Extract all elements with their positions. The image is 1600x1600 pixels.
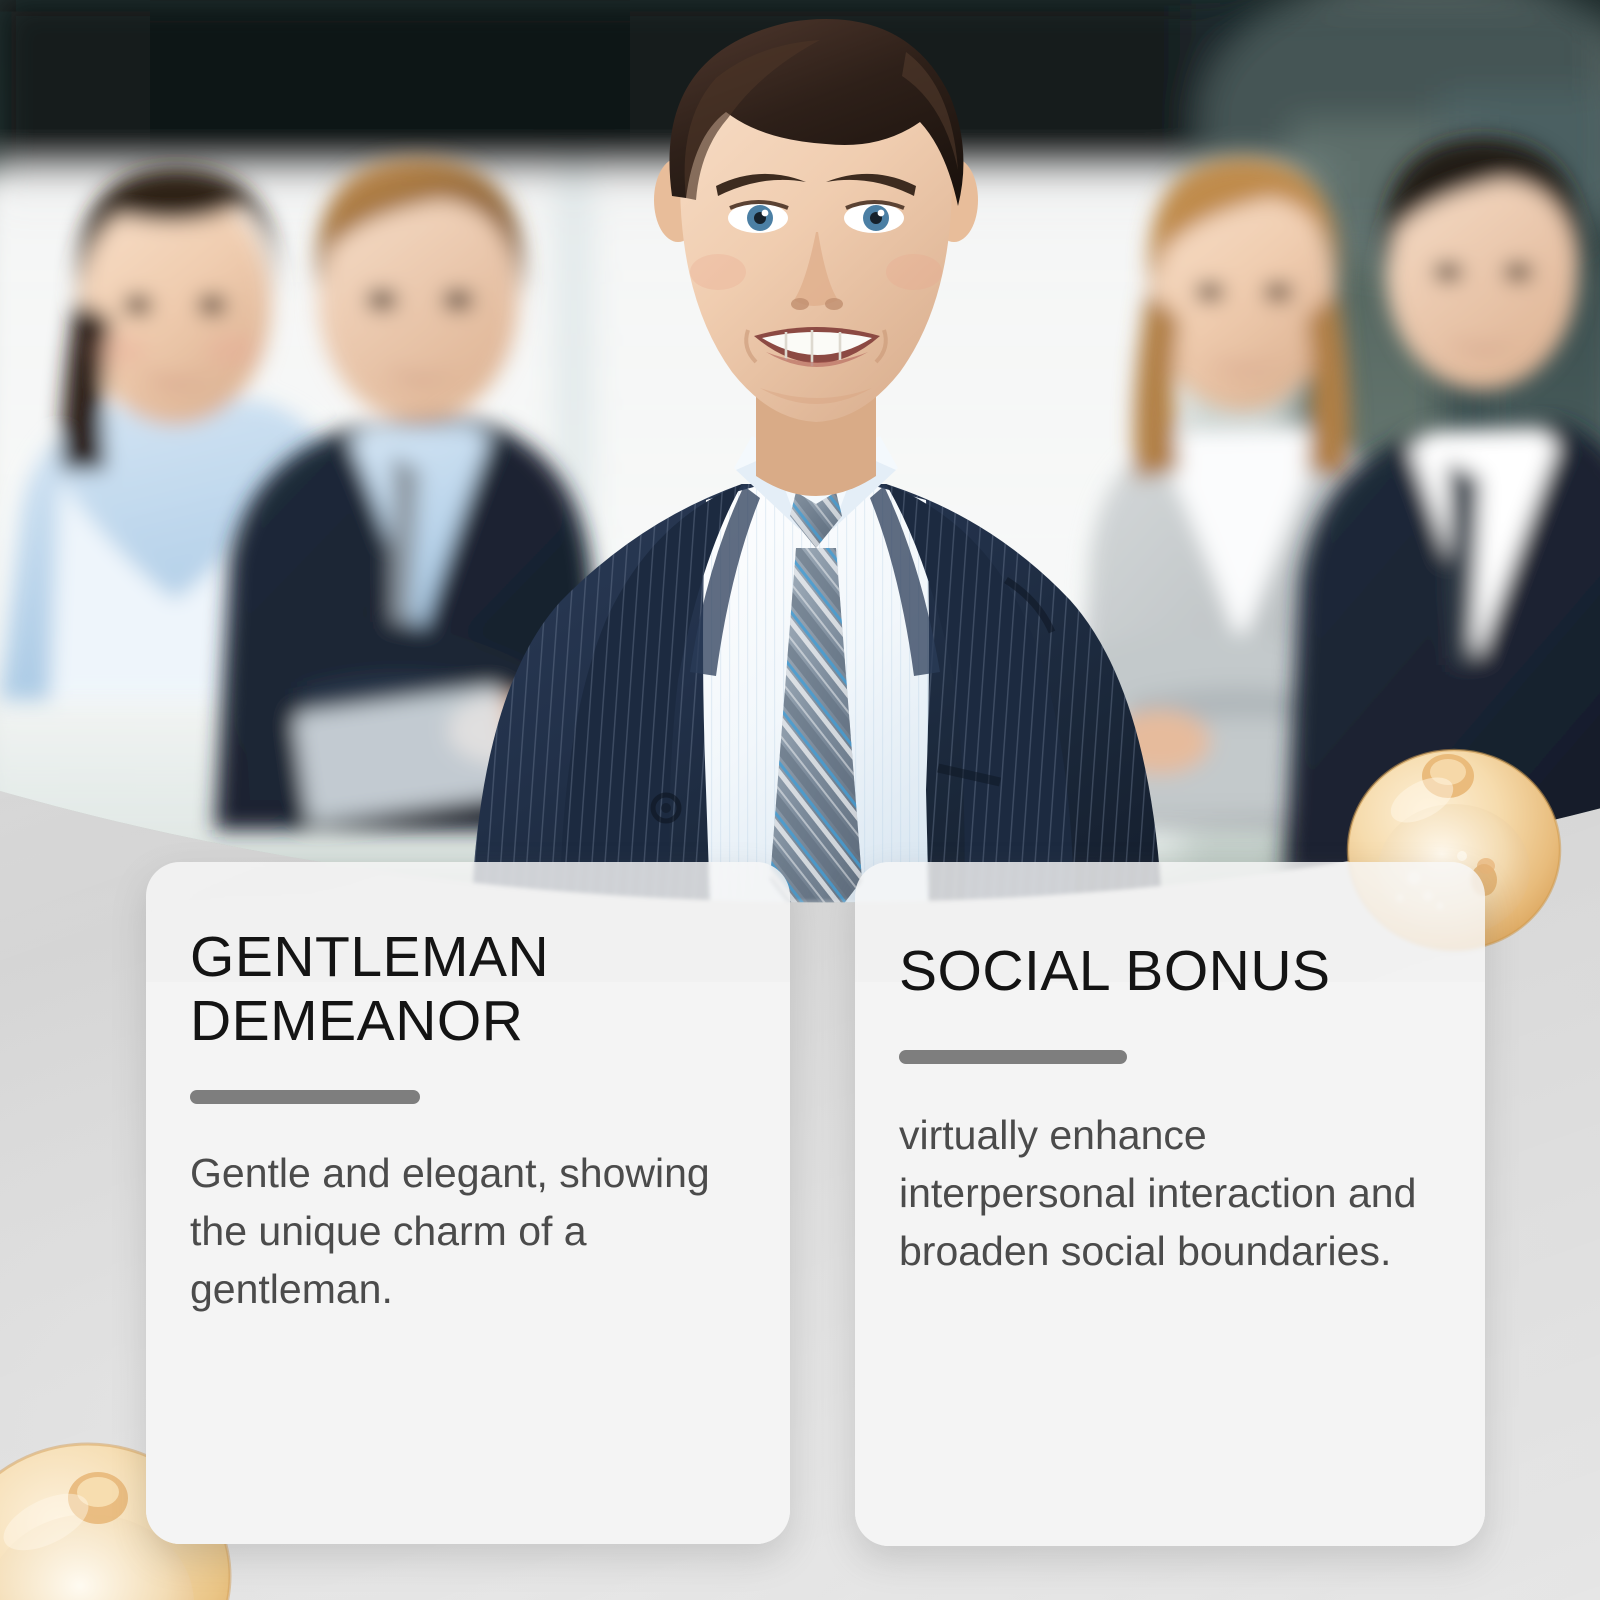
feature-card-social-bonus: SOCIAL BONUS virtually enhance interpers… [855, 862, 1485, 1546]
feature-card-gentleman-demeanor: GENTLEMAN DEMEANOR Gentle and elegant, s… [146, 862, 790, 1544]
card-description-social-bonus: virtually enhance interpersonal interact… [899, 1064, 1441, 1281]
card-content: GENTLEMAN DEMEANOR Gentle and elegant, s… [146, 862, 790, 1318]
card-content: SOCIAL BONUS virtually enhance interpers… [855, 862, 1485, 1280]
card-description-gentleman-demeanor: Gentle and elegant, showing the unique c… [190, 1104, 746, 1319]
poster-canvas: GENTLEMAN DEMEANOR Gentle and elegant, s… [0, 0, 1600, 1600]
card-divider [190, 1090, 420, 1104]
card-title-social-bonus: SOCIAL BONUS [899, 862, 1441, 1004]
card-title-gentleman-demeanor: GENTLEMAN DEMEANOR [190, 862, 746, 1054]
card-divider [899, 1050, 1127, 1064]
